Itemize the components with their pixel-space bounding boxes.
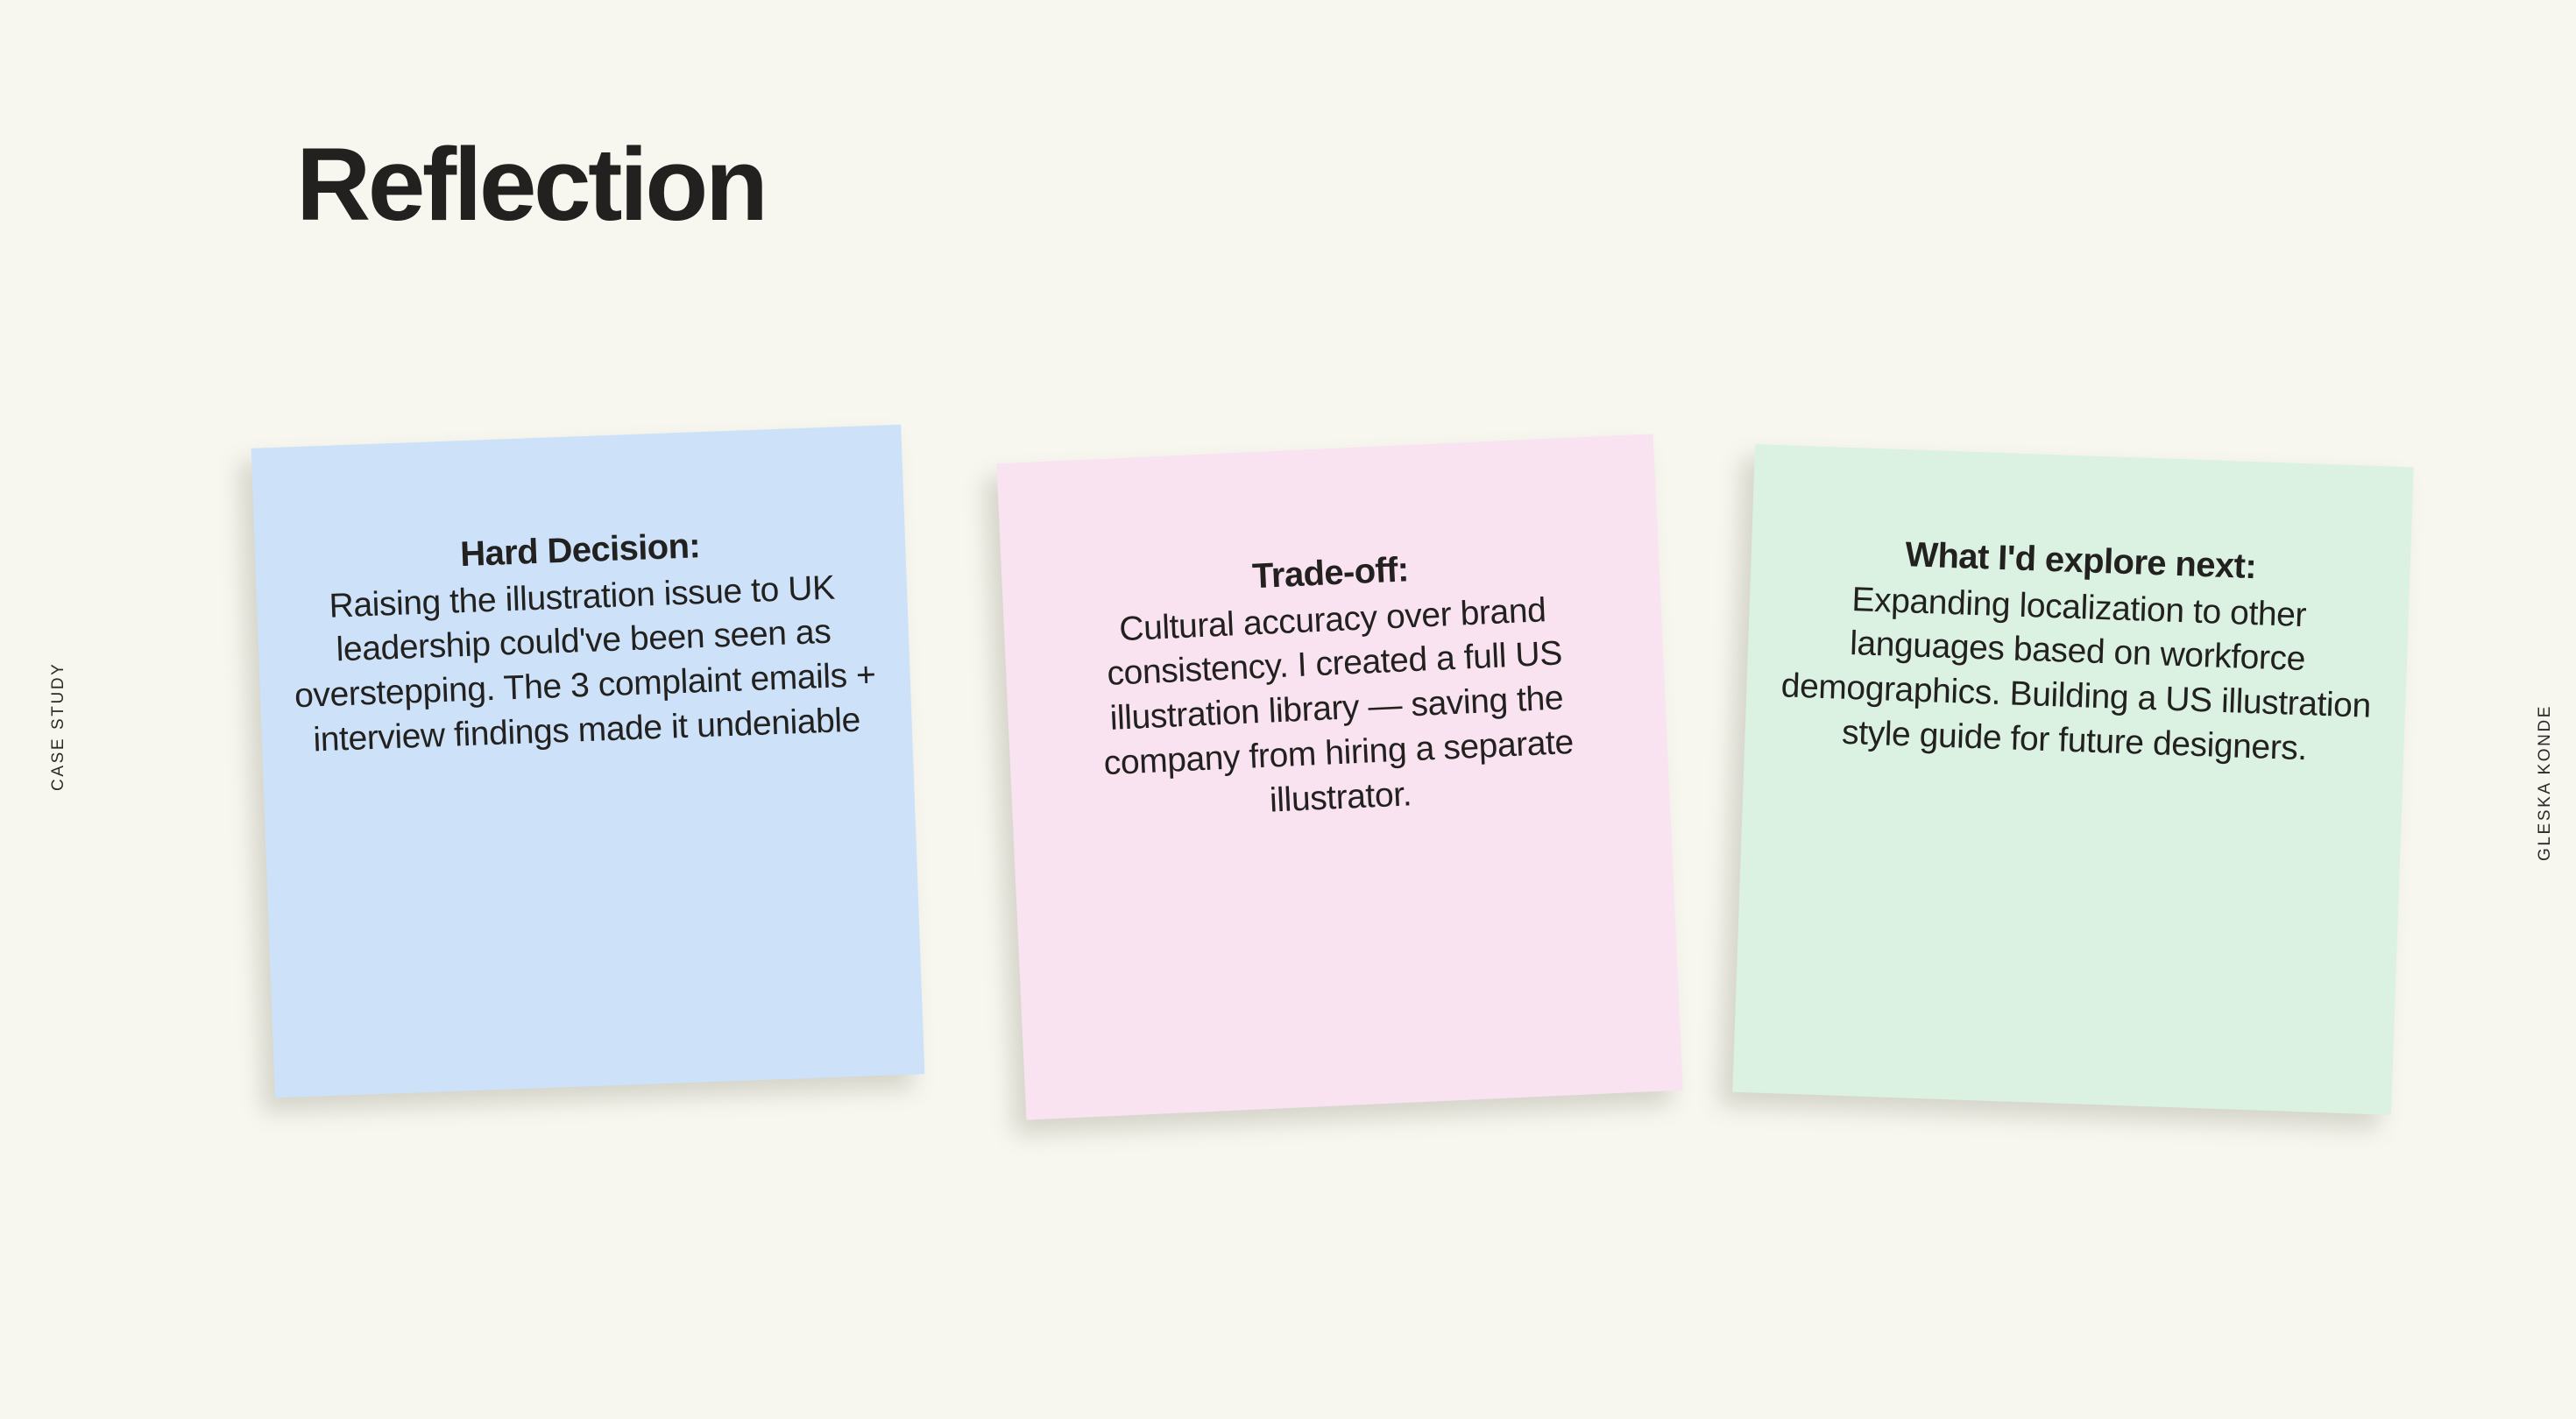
- sticky-note-body: Raising the illustration issue to UK lea…: [286, 565, 882, 764]
- sticky-note-heading: Trade-off:: [1251, 550, 1409, 597]
- sticky-note-heading: What I'd explore next:: [1905, 535, 2257, 587]
- sticky-note-trade-off: Trade-off: Cultural accuracy over brand …: [996, 434, 1682, 1119]
- sticky-note-body: Expanding localization to other language…: [1774, 575, 2380, 773]
- sticky-note-explore-next: What I'd explore next: Expanding localiz…: [1732, 444, 2413, 1115]
- sticky-note-hard-decision: Hard Decision: Raising the illustration …: [251, 425, 925, 1098]
- sticky-notes-group: Hard Decision: Raising the illustration …: [0, 0, 2576, 1419]
- sticky-note-heading: Hard Decision:: [460, 526, 701, 575]
- sticky-note-body: Cultural accuracy over brand consistency…: [1033, 585, 1640, 834]
- slide-canvas: Reflection CASE STUDY GLESKA KONDE Hard …: [0, 0, 2576, 1419]
